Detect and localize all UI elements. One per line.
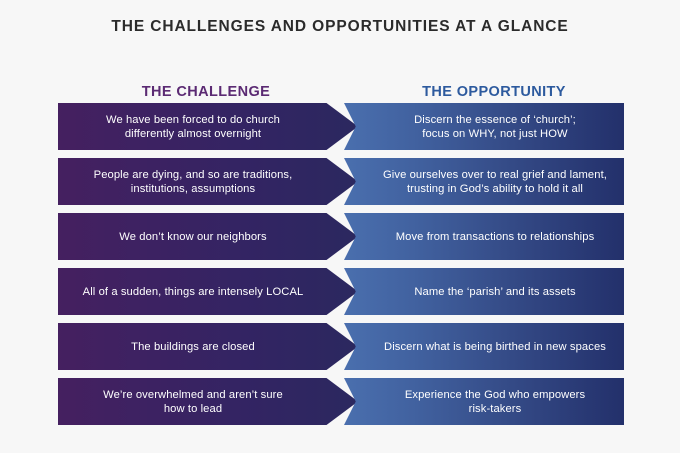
challenge-arrow: We have been forced to do church differe…	[58, 103, 358, 150]
challenge-arrow: All of a sudden, things are intensely LO…	[58, 268, 358, 315]
column-headers: THE CHALLENGE THE OPPORTUNITY	[0, 84, 680, 104]
arrow-pair-row: We don’t know our neighbors Move from tr…	[0, 213, 680, 260]
opportunity-arrow-text: Name the ‘parish’ and its assets	[414, 285, 575, 299]
opportunity-arrow: Discern what is being birthed in new spa…	[344, 323, 624, 370]
challenge-arrow: People are dying, and so are traditions,…	[58, 158, 358, 205]
column-header-challenge: THE CHALLENGE	[58, 84, 354, 100]
challenge-arrow-text: People are dying, and so are traditions,…	[94, 168, 293, 196]
opportunity-arrow: Name the ‘parish’ and its assets	[344, 268, 624, 315]
opportunity-arrow-text: Discern what is being birthed in new spa…	[384, 340, 606, 354]
arrow-pair-row: The buildings are closed Discern what is…	[0, 323, 680, 370]
challenge-arrow: The buildings are closed	[58, 323, 358, 370]
opportunity-arrow: Discern the essence of ‘church’; focus o…	[344, 103, 624, 150]
opportunity-arrow-text: Experience the God who empowers risk-tak…	[405, 388, 585, 416]
arrow-pair-row: We have been forced to do church differe…	[0, 103, 680, 150]
challenge-arrow-text: The buildings are closed	[131, 340, 255, 354]
arrow-pair-row: All of a sudden, things are intensely LO…	[0, 268, 680, 315]
arrow-pair-row: People are dying, and so are traditions,…	[0, 158, 680, 205]
arrow-rows: We have been forced to do church differe…	[0, 103, 680, 433]
opportunity-arrow: Give ourselves over to real grief and la…	[344, 158, 624, 205]
challenge-arrow: We don’t know our neighbors	[58, 213, 358, 260]
page-title: THE CHALLENGES AND OPPORTUNITIES AT A GL…	[0, 18, 680, 36]
opportunity-arrow: Experience the God who empowers risk-tak…	[344, 378, 624, 425]
challenge-arrow: We’re overwhelmed and aren’t sure how to…	[58, 378, 358, 425]
opportunity-arrow-text: Give ourselves over to real grief and la…	[383, 168, 607, 196]
challenge-arrow-text: All of a sudden, things are intensely LO…	[83, 285, 304, 299]
arrow-pair-row: We’re overwhelmed and aren’t sure how to…	[0, 378, 680, 425]
opportunity-arrow-text: Move from transactions to relationships	[396, 230, 595, 244]
opportunity-arrow-text: Discern the essence of ‘church’; focus o…	[414, 113, 576, 141]
challenge-arrow-text: We’re overwhelmed and aren’t sure how to…	[103, 388, 283, 416]
opportunity-arrow: Move from transactions to relationships	[344, 213, 624, 260]
challenge-arrow-text: We have been forced to do church differe…	[106, 113, 280, 141]
column-header-opportunity: THE OPPORTUNITY	[346, 84, 642, 100]
challenge-arrow-text: We don’t know our neighbors	[119, 230, 266, 244]
